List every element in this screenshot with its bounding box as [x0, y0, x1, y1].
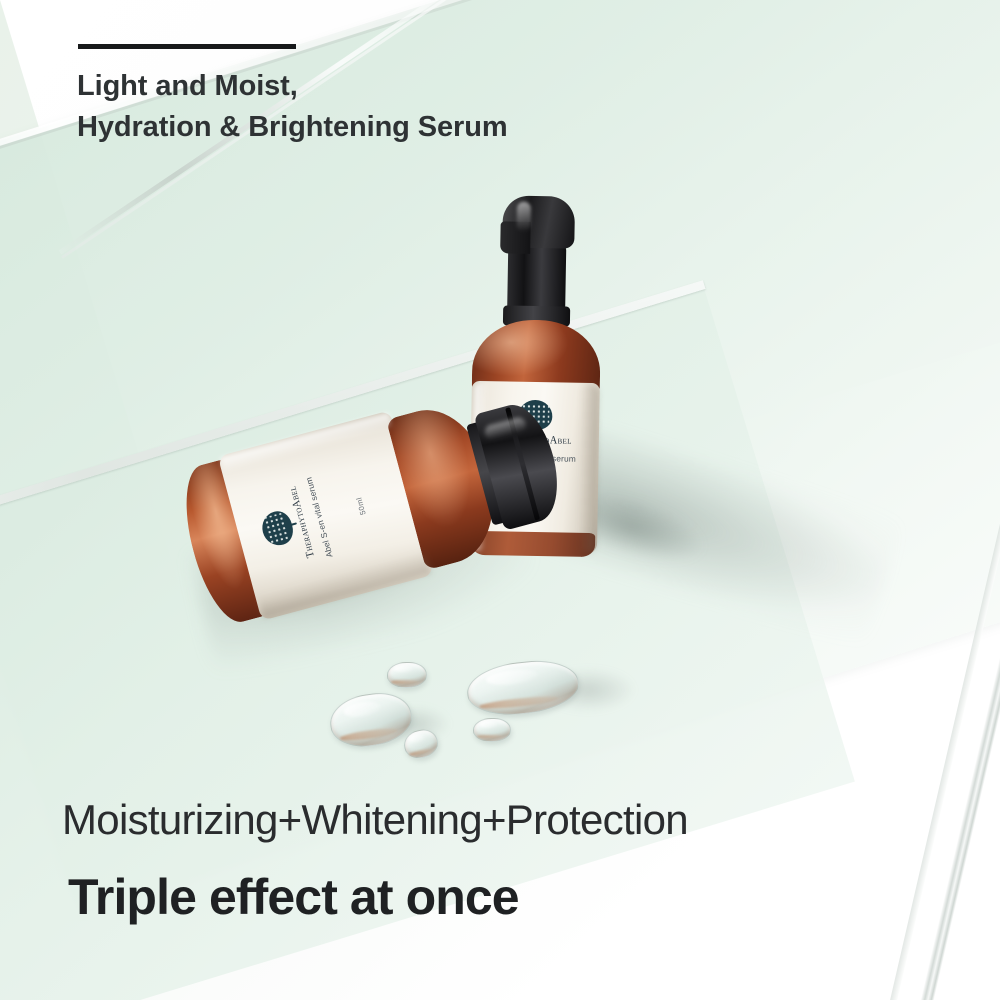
accent-rule [78, 44, 296, 49]
upright-pump-highlight [517, 202, 532, 232]
product-banner: TheraphytoAbel Abel S-en vital serum 50m… [0, 0, 1000, 1000]
water-droplet [473, 718, 511, 742]
headline-line-2: Hydration & Brightening Serum [77, 107, 717, 148]
headline-line-1: Light and Moist, [77, 70, 298, 102]
sprout-dot-oval-icon [259, 508, 297, 549]
page-title: Light and Moist, Hydration & Brightening… [77, 66, 717, 148]
upright-body-shade-right [578, 385, 599, 553]
tagline-text: Triple effect at once [68, 868, 519, 926]
benefits-text: Moisturizing+Whitening+Protection [62, 796, 688, 844]
upright-pump-neck [507, 243, 566, 312]
volume-label: 50ml [354, 496, 367, 516]
water-droplet [387, 662, 427, 688]
